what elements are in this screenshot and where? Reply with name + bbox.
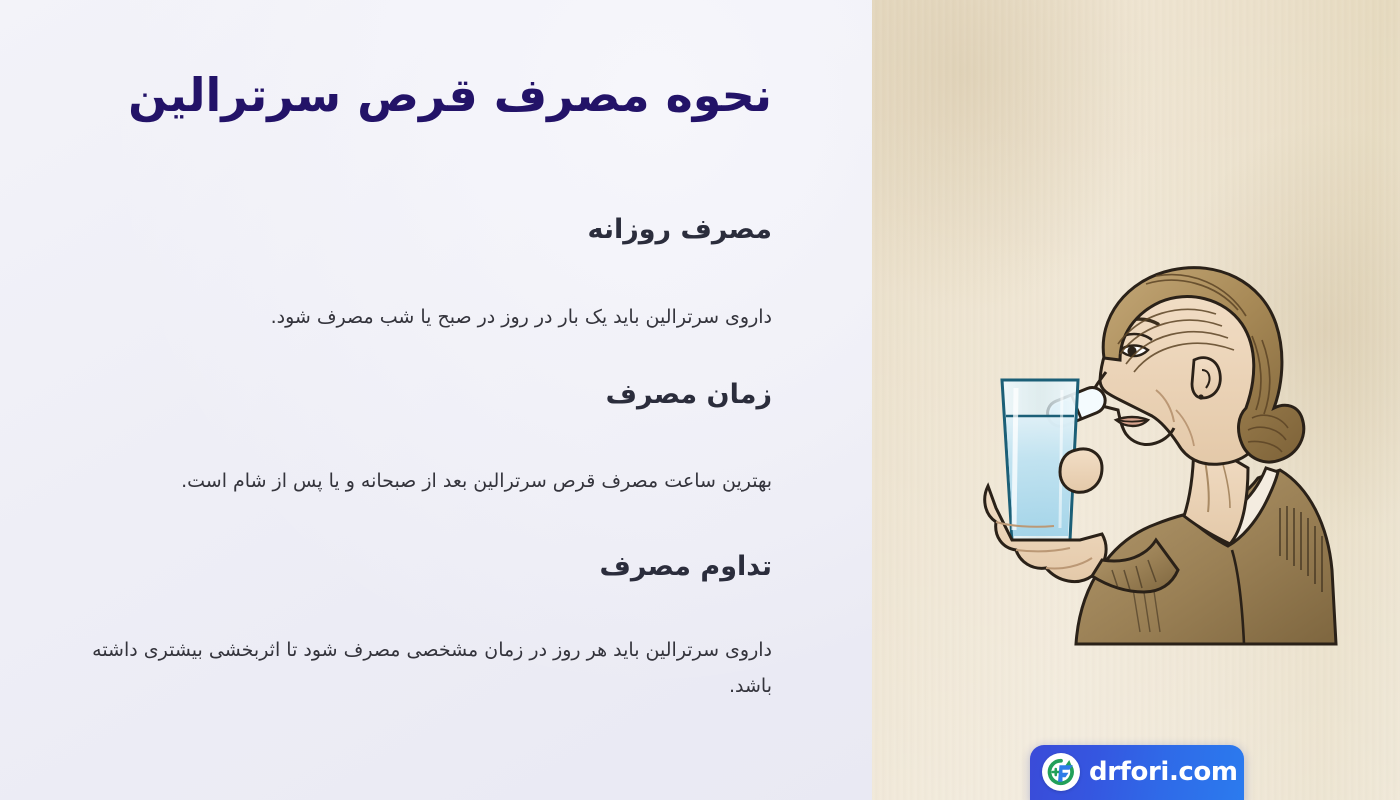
section-body-daily-use: داروی سرترالین باید یک بار در روز در صبح… xyxy=(72,300,772,335)
woman-taking-pill-illustration xyxy=(980,240,1340,650)
illustration-panel: drfori.com xyxy=(872,0,1400,800)
drfori-logo-icon xyxy=(1042,753,1080,791)
section-heading-continuity: تداوم مصرف xyxy=(72,549,772,585)
section-timing: زمان مصرف بهترین ساعت مصرف قرص سرترالین … xyxy=(72,377,772,499)
page-title: نحوه مصرف قرص سرترالین xyxy=(72,66,772,126)
section-daily-use: مصرف روزانه داروی سرترالین باید یک بار د… xyxy=(72,212,772,336)
section-heading-daily-use: مصرف روزانه xyxy=(72,212,772,248)
infographic-page: drfori.com نحوه مصرف قرص سرترالین مصرف ر… xyxy=(0,0,1400,800)
section-body-timing: بهترین ساعت مصرف قرص سرترالین بعد از صبح… xyxy=(72,464,772,499)
section-body-continuity: داروی سرترالین باید هر روز در زمان مشخصی… xyxy=(72,633,772,703)
content-panel: نحوه مصرف قرص سرترالین مصرف روزانه داروی… xyxy=(0,0,872,800)
logo-text: drfori.com xyxy=(1089,759,1238,785)
drfori-logo-badge[interactable]: drfori.com xyxy=(1030,745,1244,800)
section-heading-timing: زمان مصرف xyxy=(72,377,772,413)
section-continuity: تداوم مصرف داروی سرترالین باید هر روز در… xyxy=(72,549,772,704)
